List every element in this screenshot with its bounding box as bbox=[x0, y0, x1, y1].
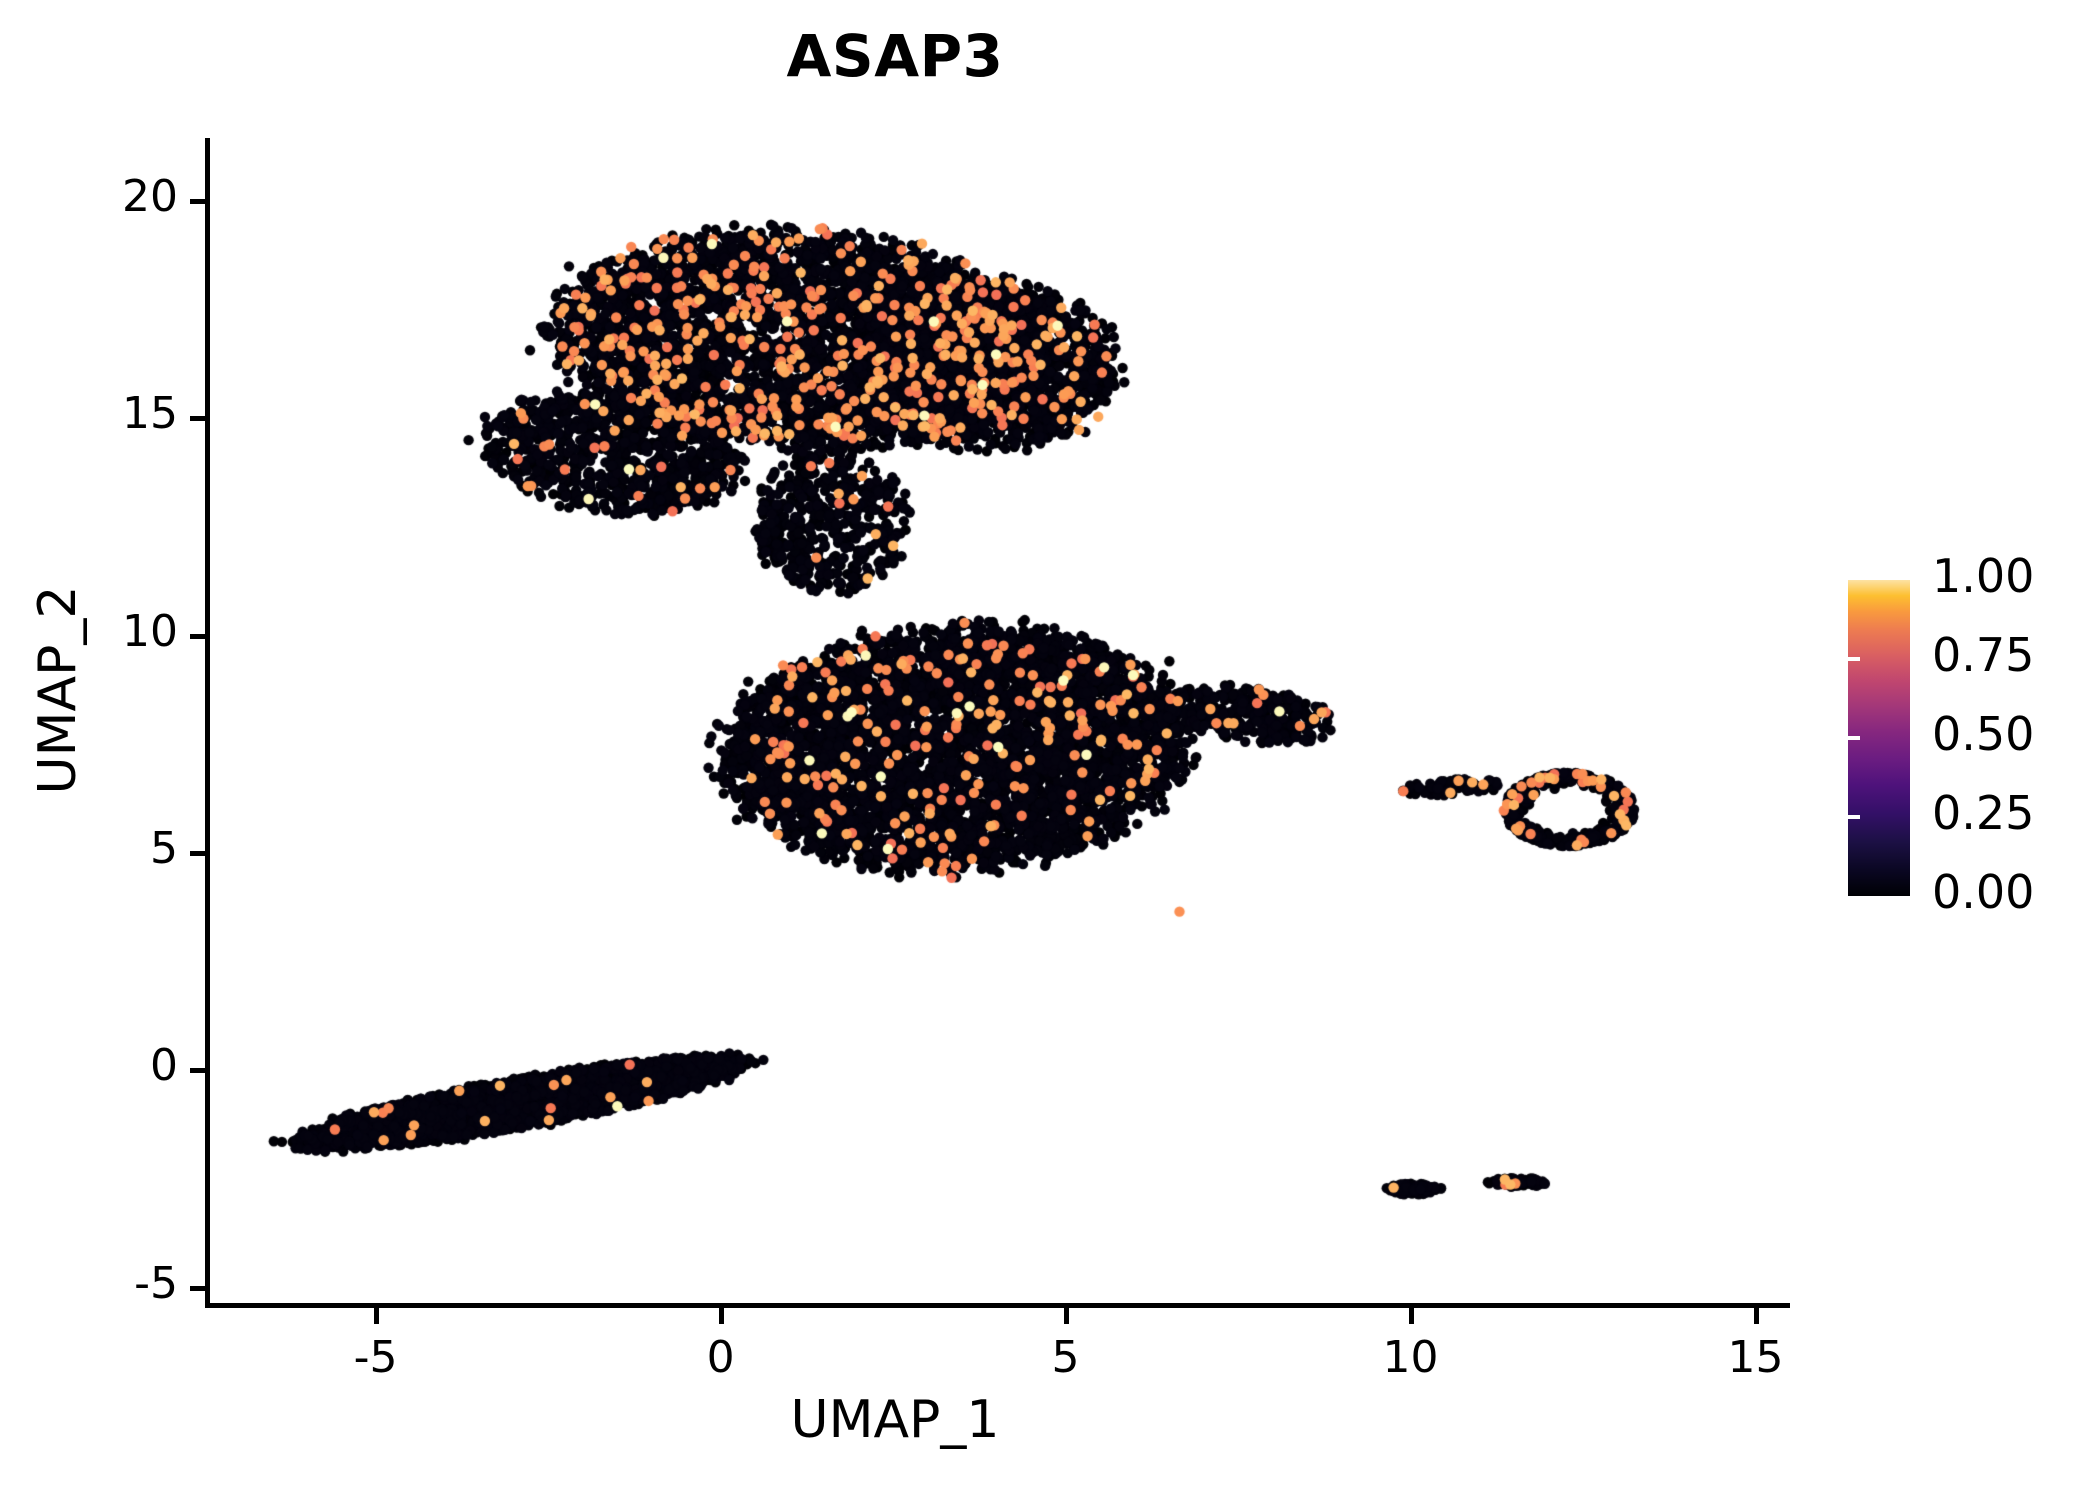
y-axis-label: UMAP_2 bbox=[28, 240, 88, 1140]
y-tick-label: -5 bbox=[134, 1258, 178, 1309]
scatter-canvas bbox=[210, 140, 1790, 1305]
x-tick-label: -5 bbox=[276, 1332, 476, 1383]
x-tick-label: 0 bbox=[621, 1332, 821, 1383]
y-tick-label: 10 bbox=[122, 606, 178, 657]
x-axis-spine bbox=[205, 1303, 1790, 1308]
y-tick-mark bbox=[190, 851, 205, 856]
plot-area bbox=[210, 140, 1790, 1305]
colorbar-tick-label: 0.00 bbox=[1932, 865, 2034, 919]
y-tick-label: 5 bbox=[150, 823, 178, 874]
colorbar-tick-mark bbox=[1848, 815, 1860, 819]
x-axis-label: UMAP_1 bbox=[0, 1390, 1790, 1450]
x-tick-label: 15 bbox=[1656, 1332, 1856, 1383]
colorbar-tick-mark bbox=[1848, 736, 1860, 740]
y-tick-mark bbox=[190, 1068, 205, 1073]
y-tick-mark bbox=[190, 634, 205, 639]
colorbar-tick-mark bbox=[1848, 657, 1860, 661]
colorbar-tick-label: 1.00 bbox=[1932, 549, 2034, 603]
x-tick-label: 5 bbox=[966, 1332, 1166, 1383]
umap-feature-plot-figure: ASAP3 -505101520 -5051015 UMAP_1 UMAP_2 … bbox=[0, 0, 2100, 1500]
x-tick-mark bbox=[1754, 1308, 1759, 1324]
y-tick-label: 0 bbox=[150, 1040, 178, 1091]
colorbar-tick-mark bbox=[2076, 815, 2088, 819]
page-title: ASAP3 bbox=[0, 22, 1790, 90]
colorbar-tick-mark bbox=[2076, 657, 2088, 661]
x-tick-mark bbox=[1064, 1308, 1069, 1324]
x-tick-mark bbox=[1409, 1308, 1414, 1324]
colorbar-tick-label: 0.25 bbox=[1932, 786, 2034, 840]
colorbar-tick-mark bbox=[2076, 736, 2088, 740]
colorbar-tick-label: 0.75 bbox=[1932, 628, 2034, 682]
x-tick-mark bbox=[374, 1308, 379, 1324]
y-axis-spine bbox=[205, 138, 210, 1308]
y-tick-mark bbox=[190, 416, 205, 421]
x-tick-mark bbox=[719, 1308, 724, 1324]
colorbar: 1.000.750.500.250.00 bbox=[1848, 580, 2088, 900]
colorbar-tick-label: 0.50 bbox=[1932, 707, 2034, 761]
y-tick-label: 15 bbox=[122, 388, 178, 439]
y-tick-label: 20 bbox=[122, 171, 178, 222]
x-tick-label: 10 bbox=[1311, 1332, 1511, 1383]
y-tick-mark bbox=[190, 1286, 205, 1291]
y-tick-mark bbox=[190, 199, 205, 204]
